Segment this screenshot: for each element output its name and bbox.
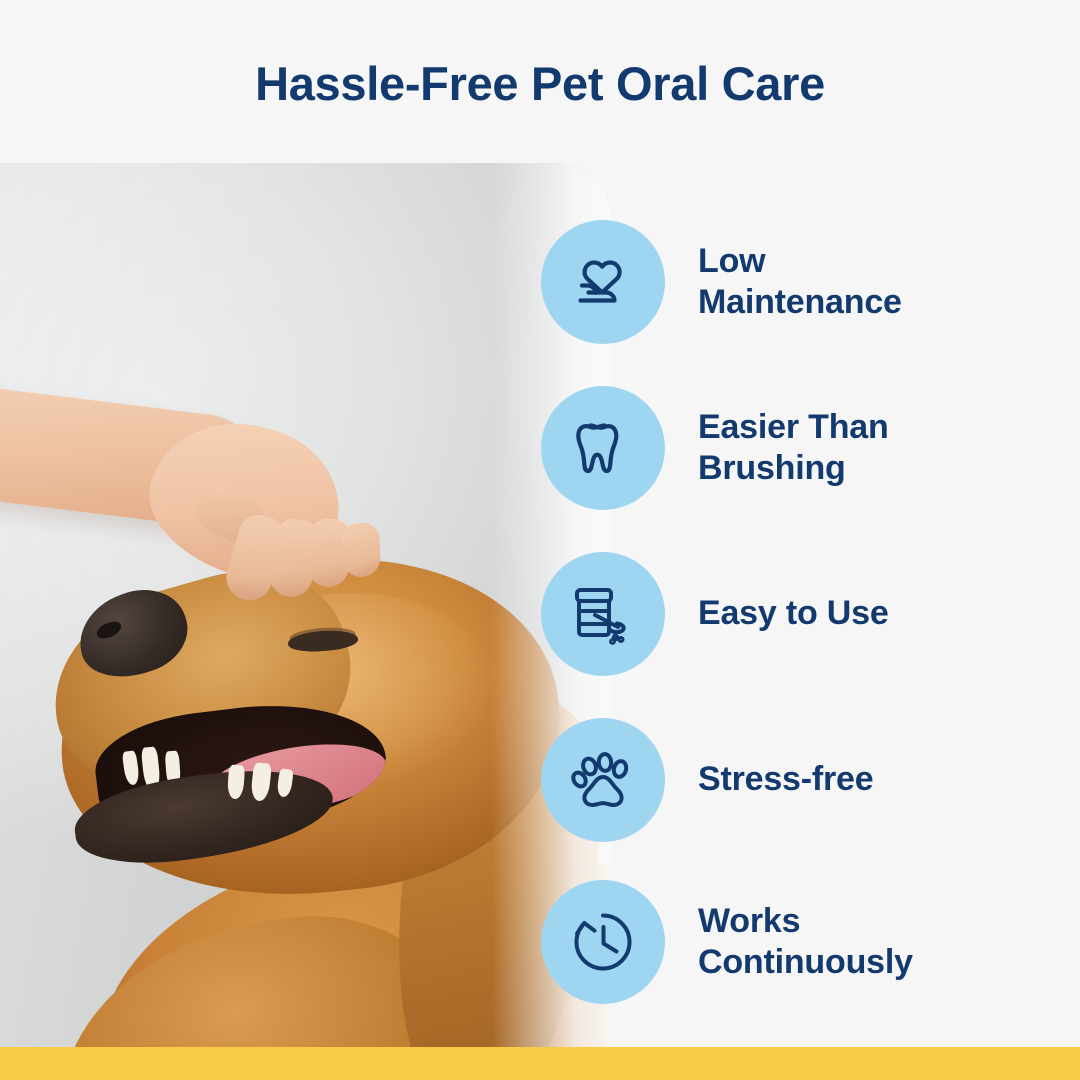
page-title: Hassle-Free Pet Oral Care: [0, 58, 1080, 110]
feature-icon-badge: [541, 880, 665, 1004]
feature-item-stress-free: Stress-free: [541, 718, 1001, 842]
heart-in-hand-icon: [566, 245, 640, 319]
feature-label: Easy to Use: [698, 593, 889, 634]
tooth-icon: [568, 411, 638, 485]
paw-print-icon: [567, 744, 639, 816]
feature-label: Easier Than Brushing: [698, 407, 889, 490]
feature-icon-badge: [541, 220, 665, 344]
feature-icon-badge: [541, 386, 665, 510]
dog-photo: [0, 163, 611, 1047]
feature-icon-badge: [541, 552, 665, 676]
feature-label: Works Continuously: [698, 901, 913, 984]
jar-with-scoop-icon: [565, 577, 641, 651]
feature-item-easy-to-use: Easy to Use: [541, 552, 1001, 676]
bottom-accent-bar: [0, 1047, 1080, 1080]
feature-icon-badge: [541, 718, 665, 842]
feature-item-low-maintenance: Low Maintenance: [541, 220, 1001, 344]
feature-label: Low Maintenance: [698, 241, 902, 324]
promo-graphic: Hassle-Free Pet Oral Care: [0, 0, 1080, 1080]
feature-item-works-continuously: Works Continuously: [541, 880, 1001, 1004]
clock-arrow-icon: [567, 906, 639, 978]
feature-label: Stress-free: [698, 759, 873, 800]
human-finger: [341, 522, 381, 577]
feature-item-easier-than-brushing: Easier Than Brushing: [541, 386, 1001, 510]
